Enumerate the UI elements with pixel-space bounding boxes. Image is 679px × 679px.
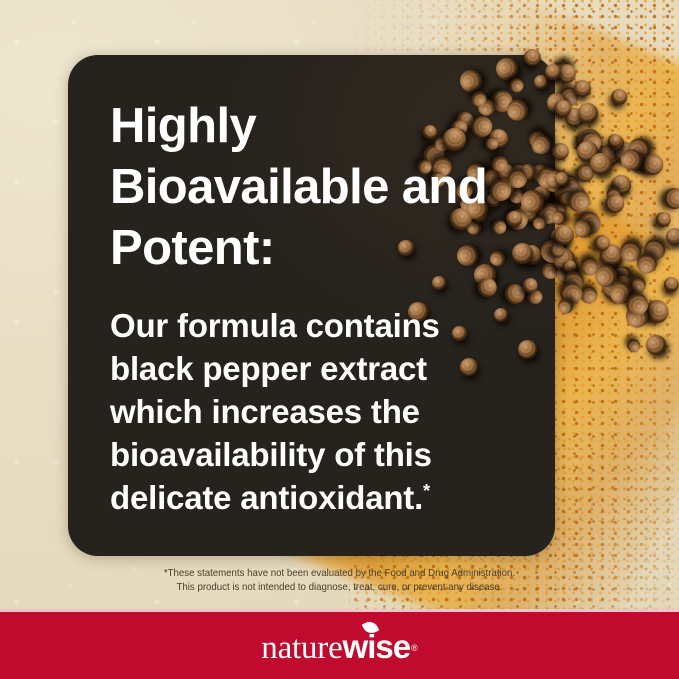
body-paragraph: Our formula contains black pepper extrac… (110, 304, 510, 519)
peppercorn (478, 278, 497, 297)
peppercorn (518, 340, 537, 359)
disclaimer-line-1: *These statements have not been evaluate… (27, 566, 652, 580)
peppercorn (532, 135, 551, 154)
legal-disclaimer: *These statements have not been evaluate… (27, 566, 652, 594)
peppercorn (664, 225, 679, 246)
product-graphic: Highly Bioavailable and Potent: Our form… (0, 0, 679, 679)
peppercorn (550, 141, 571, 162)
disclaimer-line-2: This product is not intended to diagnose… (27, 580, 652, 594)
peppercorn (608, 86, 631, 109)
footnote-marker: * (423, 481, 430, 501)
peppercorn (605, 193, 626, 214)
peppercorn (654, 210, 672, 228)
peppercorn (661, 186, 679, 212)
brand-name-part-1: nature (261, 630, 342, 666)
brand-name-part-2: wise (343, 628, 411, 665)
brand-logo: naturewise® (0, 627, 679, 667)
peppercorn (644, 333, 667, 356)
peppercorn (645, 299, 670, 324)
registered-trademark-symbol: ® (411, 643, 418, 653)
body-text: Our formula contains black pepper extrac… (110, 307, 440, 516)
peppercorn (626, 338, 640, 352)
page-title: Highly Bioavailable and Potent: (110, 96, 510, 279)
peppercorn (521, 46, 545, 70)
peppercorn (661, 274, 679, 295)
peppercorn (642, 154, 664, 176)
